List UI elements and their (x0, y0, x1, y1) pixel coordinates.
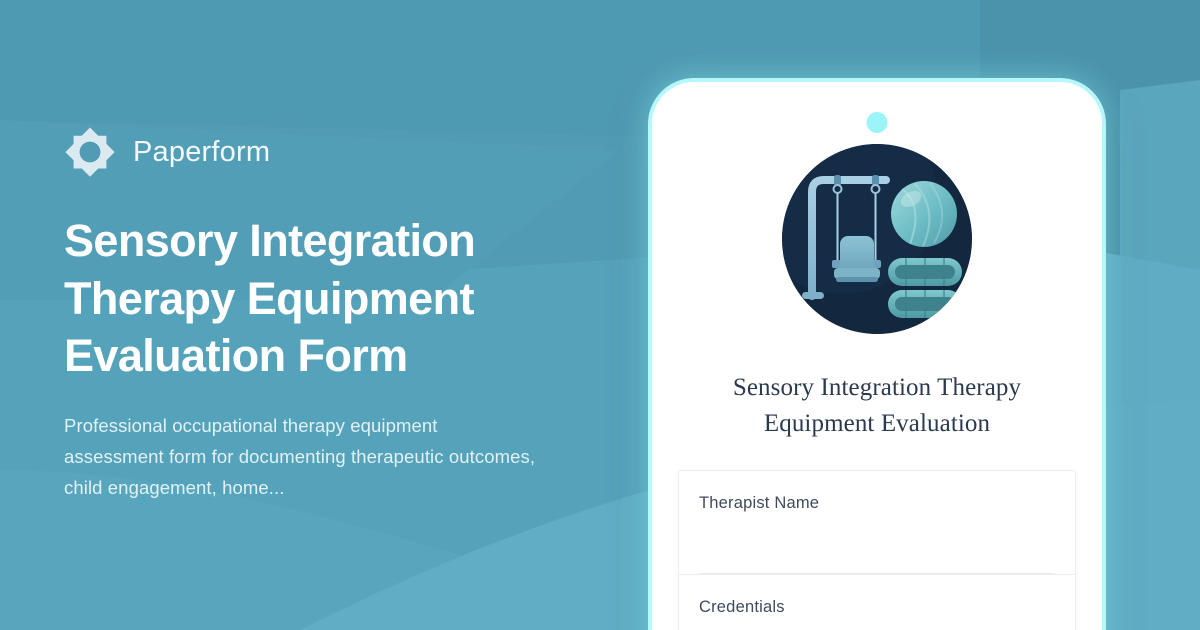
page-description: Professional occupational therapy equipm… (64, 411, 542, 504)
brand-lockup: Paperform (64, 126, 604, 178)
therapist-name-input[interactable] (699, 522, 1055, 574)
page-title: Sensory Integration Therapy Equipment Ev… (64, 212, 564, 385)
form-title: Sensory Integration Therapy Equipment Ev… (676, 370, 1078, 443)
phone-screen: Sensory Integration Therapy Equipment Ev… (652, 82, 1102, 630)
brand-name: Paperform (133, 138, 270, 167)
camera-dot-icon (867, 112, 888, 133)
form-field-credentials: Credentials (679, 575, 1075, 630)
field-label-credentials: Credentials (699, 597, 1055, 618)
phone-mockup: Sensory Integration Therapy Equipment Ev… (648, 78, 1106, 630)
form-field-therapist-name: Therapist Name (679, 471, 1075, 575)
form-card: Therapist Name Credentials (678, 470, 1076, 630)
paperform-logo-icon (64, 126, 116, 178)
therapy-equipment-illustration-icon (782, 144, 972, 334)
field-label-therapist-name: Therapist Name (699, 493, 1055, 514)
hero-content-column: Paperform Sensory Integration Therapy Eq… (64, 0, 604, 630)
